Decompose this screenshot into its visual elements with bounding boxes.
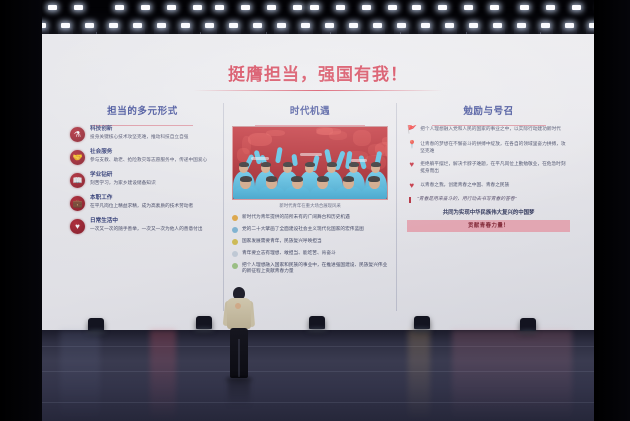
flag-icon: 🚩 — [407, 126, 416, 134]
photo-highlight — [300, 153, 322, 156]
ceiling-lamp — [517, 23, 526, 28]
raised-arm — [275, 147, 283, 164]
pin-icon: 📍 — [407, 141, 416, 149]
left-list-item: 🤝社会服务参与支教、助老、抢险救灾等志愿服务中，传递中国爱心 — [70, 149, 215, 165]
left-list-item-body: 参与支教、助老、抢险救灾等志愿服务中，传递中国爱心 — [90, 157, 215, 163]
ceiling-lamp — [336, 5, 345, 10]
ceiling-lamp — [349, 23, 358, 28]
left-list-item: 📖学业钻研刻苦学习，为家乡建设储备知识 — [70, 172, 215, 188]
slide-columns: 担当的多元形式 ⚗科技创新投身关键核心技术攻坚克难，推动科技自立自强🤝社会服务参… — [54, 103, 582, 311]
ceiling-lamp — [61, 23, 70, 28]
person-hair — [349, 162, 359, 167]
ceiling-lamp — [438, 5, 447, 10]
left-list-item-body: 在平凡岗位上精益求精，成为高素质的技术劳动者 — [90, 203, 215, 209]
floor-reflection-amber — [408, 330, 430, 421]
ceiling-lamp — [412, 5, 421, 10]
column-left: 担当的多元形式 ⚗科技创新投身关键核心技术攻坚克难，推动科技自立自强🤝社会服务参… — [54, 103, 223, 311]
closing-highlight: 贡献青春力量！ — [407, 220, 570, 232]
middle-bullet-item: 党的二十大擘画了全面建设社会主义现代化国家的宏伟蓝图 — [232, 226, 388, 233]
middle-bullet-text: 国家发展需要青年，民族复兴呼唤担当 — [242, 238, 388, 244]
floor-par-light — [196, 316, 212, 329]
flask-icon: ⚗ — [70, 127, 85, 142]
person-hair — [368, 176, 380, 182]
left-list-item-text: 社会服务参与支教、助老、抢险救灾等志愿服务中，传递中国爱心 — [90, 149, 215, 163]
left-list-item-text: 科技创新投身关键核心技术攻坚克难，推动科技自立自强 — [90, 126, 215, 140]
right-list-item: ♥以青春之我，创建青春之中国、青春之民族 — [407, 182, 570, 190]
ceiling-lamp — [141, 5, 150, 10]
briefcase-icon: 💼 — [70, 196, 85, 211]
presentation-slide: 挺膺担当，强国有我！ 担当的多元形式 ⚗科技创新投身关键核心技术攻坚克难，推动科… — [42, 34, 594, 330]
middle-bullet-item: 新时代为青年提供的前所未有的广阔舞台和历史机遇 — [232, 214, 388, 221]
ceiling-lamp — [215, 5, 224, 10]
person-hair — [283, 162, 293, 167]
ceiling-lamp — [241, 5, 250, 10]
stage-floor — [0, 330, 630, 421]
person-hair — [343, 176, 355, 182]
left-list-item-title: 本职工作 — [90, 195, 215, 202]
ceiling-lamp — [572, 5, 581, 10]
right-list-item: 📍让青春的梦想在不懈奋斗的拼搏中绽放，在各自的领域里奋力拼搏，攻坚克难 — [407, 141, 570, 154]
photo-caption: 新时代青年在重大场合展现风采 — [232, 203, 388, 209]
ceiling-lamp — [293, 5, 302, 10]
middle-bullet-text: 青年要立志有理想、敢担当、能吃苦、肯奋斗 — [242, 250, 388, 256]
stage-wing-right — [594, 0, 630, 421]
left-list-item-title: 社会服务 — [90, 149, 215, 156]
middle-bullet-item: 国家发展需要青年，民族复兴呼唤担当 — [232, 238, 388, 245]
floor-par-light — [309, 316, 325, 329]
ceiling-lamp — [373, 23, 382, 28]
left-list-item-body: 投身关键核心技术攻坚克难，推动科技自立自强 — [90, 134, 215, 140]
middle-bullet-item: 把个人理想融入国家和民族的事业中，在推进强国建设、民族复兴伟业的新征程上贡献青春… — [232, 262, 388, 275]
ceiling-lamp — [133, 23, 142, 28]
ceiling-lamp — [109, 23, 118, 28]
ceiling-lamp — [181, 23, 190, 28]
floor-reflection-red — [150, 330, 176, 421]
left-list-item: 💼本职工作在平凡岗位上精益求精，成为高素质的技术劳动者 — [70, 195, 215, 211]
left-list-item: ⚗科技创新投身关键核心技术攻坚克难，推动科技自立自强 — [70, 126, 215, 142]
photo-background-texture — [329, 131, 346, 140]
pull-quote: “青春是用来奋斗的，用行动去书写青春的答卷” — [409, 197, 570, 204]
right-list-item-text: 拒绝躺平摆烂，解决卡脖子难题，在平凡岗位上勤勉敬业，在危急时刻挺身而出 — [420, 161, 570, 174]
stage-wing-left — [0, 0, 42, 421]
closing-statement: 共同为实现中华民族伟大复兴的中国梦 贡献青春力量！ — [407, 209, 570, 231]
ceiling-lamp — [277, 23, 286, 28]
ceiling-lamp — [397, 23, 406, 28]
bullet-marker-icon — [232, 239, 238, 245]
title-underline — [193, 90, 443, 91]
bullet-marker-icon — [232, 263, 238, 269]
left-list-item-title: 科技创新 — [90, 126, 215, 133]
person-hair — [305, 162, 315, 167]
bullet-marker-icon — [232, 251, 238, 257]
right-list-item: ♥拒绝躺平摆烂，解决卡脖子难题，在平凡岗位上勤勉敬业，在危急时刻挺身而出 — [407, 161, 570, 174]
ceiling-lamp — [74, 5, 83, 10]
left-list-item-text: 日常生活中一次又一次的随手善举，一次又一次为他人的善意付出 — [90, 218, 215, 232]
left-item-list: ⚗科技创新投身关键核心技术攻坚克难，推动科技自立自强🤝社会服务参与支教、助老、抢… — [70, 126, 215, 234]
ceiling-lamp — [325, 23, 334, 28]
ceiling-lamp — [469, 23, 478, 28]
ceiling-lamp — [541, 23, 550, 28]
right-list-item-text: 把个人理想融入党和人民的国家的事业之中，以实际行动建功新时代 — [420, 126, 570, 133]
projection-screen: 挺膺担当，强国有我！ 担当的多元形式 ⚗科技创新投身关键核心技术攻坚克难，推动科… — [42, 34, 594, 330]
column-right-heading: 勉励与号召 — [407, 103, 570, 117]
speaker-leg-gap — [238, 339, 240, 377]
left-list-item-body: 刻苦学习，为家乡建设储备知识 — [90, 180, 215, 186]
speaker-on-stage — [222, 287, 256, 385]
ceiling-lamp — [85, 23, 94, 28]
ceiling-lamp — [167, 5, 176, 10]
ceiling-lamp — [267, 5, 276, 10]
ceiling-lamp — [310, 5, 319, 10]
left-list-item-title: 日常生活中 — [90, 218, 215, 225]
floor-reflection-pink — [452, 330, 572, 421]
person-hair — [240, 176, 252, 182]
right-item-list: 🚩把个人理想融入党和人民的国家的事业之中，以实际行动建功新时代📍让青春的梦想在不… — [407, 126, 570, 190]
photo-background-texture — [385, 141, 388, 160]
ceiling-lamp — [520, 5, 529, 10]
bullet-marker-icon — [232, 227, 238, 233]
ceiling-lamp — [464, 5, 473, 10]
ceiling-lamp — [205, 23, 214, 28]
person-hair — [239, 162, 249, 167]
heart-icon: ♥ — [407, 182, 416, 190]
ceiling-lamp — [193, 5, 202, 10]
middle-bullet-list: 新时代为青年提供的前所未有的广阔舞台和历史机遇党的二十大擘画了全面建设社会主义现… — [232, 214, 388, 275]
ceiling-lamp — [445, 23, 454, 28]
slide-title: 挺膺担当，强国有我！ — [54, 60, 582, 85]
left-list-item-text: 本职工作在平凡岗位上精益求精，成为高素质的技术劳动者 — [90, 195, 215, 209]
middle-bullet-text: 新时代为青年提供的前所未有的广阔舞台和历史机遇 — [242, 214, 388, 220]
right-list-item-text: 以青春之我，创建青春之中国、青春之民族 — [420, 182, 570, 189]
ceiling-lamp — [115, 5, 124, 10]
ceiling-lamp — [48, 5, 57, 10]
middle-bullet-text: 把个人理想融入国家和民族的事业中，在推进强国建设、民族复兴伟业的新征程上贡献青春… — [242, 262, 388, 275]
bullet-marker-icon — [232, 215, 238, 221]
photo-background-texture — [353, 130, 371, 146]
heart-icon: ♥ — [407, 161, 416, 169]
book-icon: 📖 — [70, 173, 85, 188]
ceiling-lamp — [565, 23, 574, 28]
column-left-heading: 担当的多元形式 — [70, 103, 215, 117]
auditorium-stage-scene: 挺膺担当，强国有我！ 担当的多元形式 ⚗科技创新投身关键核心技术攻坚克难，推动科… — [0, 0, 630, 421]
heart-icon: ♥ — [70, 219, 85, 234]
ceiling-lamp — [490, 5, 499, 10]
person-hair — [291, 176, 303, 182]
left-list-item-text: 学业钻研刻苦学习，为家乡建设储备知识 — [90, 172, 215, 186]
left-list-item: ♥日常生活中一次又一次的随手善举，一次又一次为他人的善意付出 — [70, 218, 215, 234]
person-hair — [317, 176, 329, 182]
person-hair — [266, 176, 278, 182]
person-hair — [261, 162, 271, 167]
ceiling-lamp — [421, 23, 430, 28]
ceiling-lamp — [362, 5, 371, 10]
column-middle: 时代机遇 新时代青年在重大场合展现风采 新时代为青年提供的前所未有的广阔舞台和历… — [223, 103, 397, 311]
speaker-floor-reflection — [228, 381, 250, 407]
closing-line: 共同为实现中华民族伟大复兴的中国梦 — [443, 210, 535, 216]
column-right: 勉励与号召 🚩把个人理想融入党和人民的国家的事业之中，以实际行动建功新时代📍让青… — [397, 103, 582, 311]
raised-arm — [335, 150, 347, 171]
person-hair — [327, 162, 337, 167]
ceiling-lamp — [388, 5, 397, 10]
column-middle-heading: 时代机遇 — [232, 103, 388, 117]
photo-highlight — [351, 159, 367, 162]
speaker-hand-microphone — [235, 303, 241, 309]
ceiling-lamp — [301, 23, 310, 28]
floor-par-light — [88, 318, 104, 331]
left-list-item-body: 一次又一次的随手善举，一次又一次为他人的善意付出 — [90, 226, 215, 232]
ceiling-lamp — [493, 23, 502, 28]
floor-par-light — [520, 318, 536, 331]
ceiling-lamp — [229, 23, 238, 28]
floor-par-light — [414, 316, 430, 329]
person-hair — [371, 162, 381, 167]
ceiling-lamp — [157, 23, 166, 28]
middle-bullet-item: 青年要立志有理想、敢担当、能吃苦、肯奋斗 — [232, 250, 388, 257]
handshake-icon: 🤝 — [70, 150, 85, 165]
right-list-item-text: 让青春的梦想在不懈奋斗的拼搏中绽放，在各自的领域里奋力拼搏，攻坚克难 — [420, 141, 570, 154]
ceiling-lamp — [546, 5, 555, 10]
ceiling-lamp — [253, 23, 262, 28]
floor-reflection-blue — [60, 330, 100, 421]
right-list-item: 🚩把个人理想融入党和人民的国家的事业之中，以实际行动建功新时代 — [407, 126, 570, 134]
photo-highlight — [251, 157, 269, 160]
youth-celebration-photo — [232, 126, 388, 200]
photo-background-texture — [266, 130, 285, 137]
left-list-item-title: 学业钻研 — [90, 172, 215, 179]
middle-bullet-text: 党的二十大擘画了全面建设社会主义现代化国家的宏伟蓝图 — [242, 226, 388, 232]
